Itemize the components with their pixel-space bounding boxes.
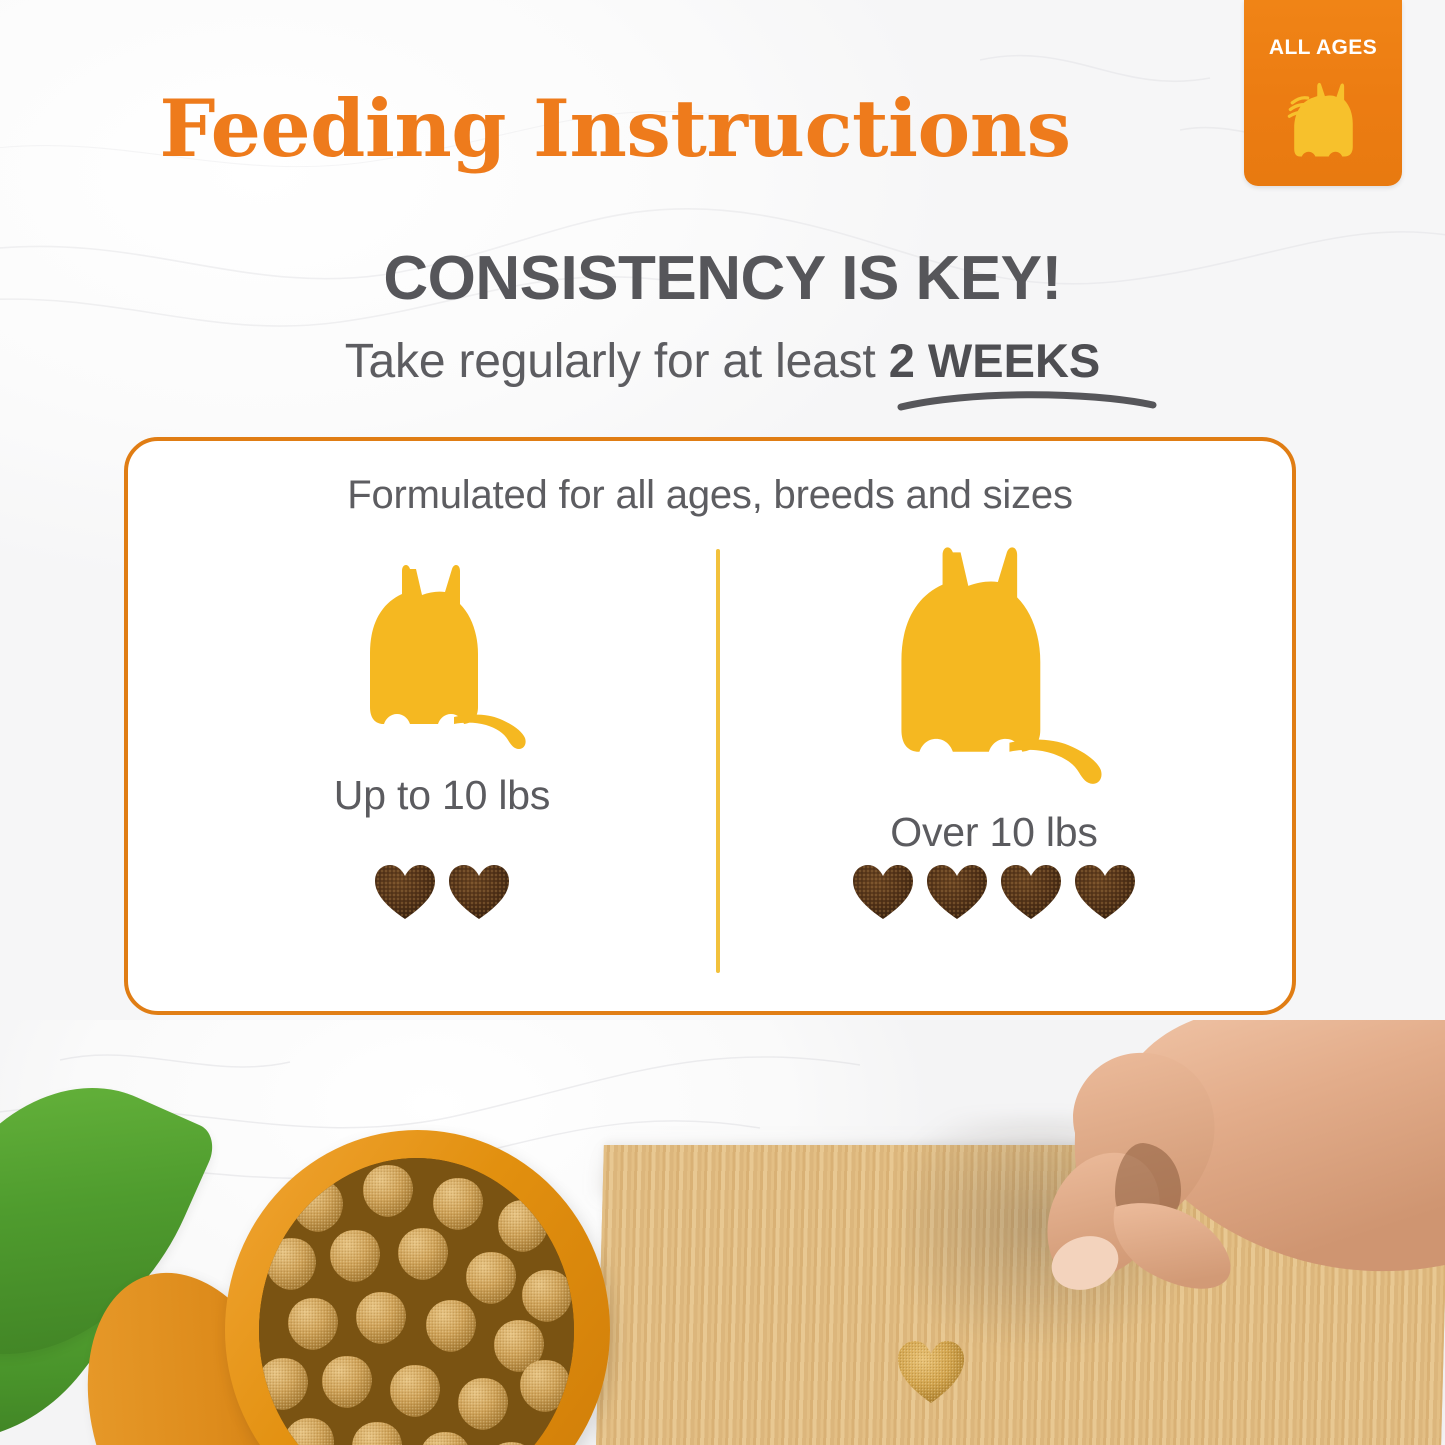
single-kibble-treat	[895, 1338, 967, 1406]
heart-kibble-icon	[851, 862, 915, 922]
cat-silhouette-icon	[354, 557, 530, 753]
infographic-page: ALL AGES Feeding Instructions CONSISTENC…	[0, 0, 1445, 1445]
panel-large-cat: Over 10 lbs	[720, 537, 1268, 987]
card-subtitle: Formulated for all ages, breeds and size…	[128, 473, 1292, 518]
badge-label: ALL AGES	[1244, 36, 1402, 60]
heart-kibble-icon	[925, 862, 989, 922]
product-photo	[0, 1020, 1445, 1445]
feeding-guide-card: Formulated for all ages, breeds and size…	[124, 437, 1296, 1015]
all-ages-badge: ALL AGES	[1244, 0, 1402, 186]
subhead-emphasis: 2 WEEKS	[889, 334, 1101, 387]
bowl-kibble-fill	[259, 1158, 574, 1445]
heart-kibble-icon	[1073, 862, 1137, 922]
subhead-headline: CONSISTENCY IS KEY!	[0, 243, 1445, 314]
panel-small-cat: Up to 10 lbs	[168, 537, 716, 987]
large-cat-illustration	[720, 537, 1268, 789]
emphasis-underline	[897, 385, 1157, 413]
hand-holding-treat	[955, 1020, 1445, 1360]
heart-kibble-icon	[373, 862, 437, 922]
small-cat-label: Up to 10 lbs	[168, 772, 716, 819]
heart-kibble-icon	[447, 862, 511, 922]
heart-kibble-icon	[999, 862, 1063, 922]
subhead-line: Take regularly for at least 2 WEEKS	[0, 333, 1445, 389]
cat-silhouette-icon	[880, 537, 1108, 789]
page-title: Feeding Instructions	[0, 82, 1230, 175]
small-cat-treat-count	[168, 862, 716, 922]
cat-silhouette-icon	[1275, 74, 1371, 170]
large-cat-label: Over 10 lbs	[720, 809, 1268, 856]
small-cat-illustration	[168, 557, 716, 753]
kibble-pieces	[259, 1158, 574, 1445]
subhead-prefix: Take regularly for at least	[345, 335, 889, 388]
large-cat-treat-count	[720, 862, 1268, 922]
